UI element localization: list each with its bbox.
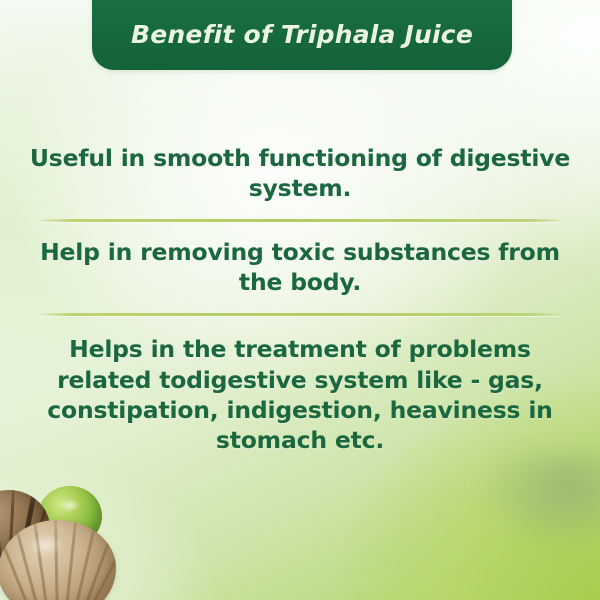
fruit-rib	[53, 520, 58, 600]
benefit-item-2: Help in removing toxic substances from t…	[0, 222, 600, 313]
fruit-rib	[62, 520, 79, 600]
benefit-item-3: Helps in the treatment of problems relat…	[0, 316, 600, 465]
benefit-text-3: Helps in the treatment of problems relat…	[26, 334, 574, 455]
header-banner: Benefit of Triphala Juice	[92, 0, 512, 70]
page-title: Benefit of Triphala Juice	[131, 20, 473, 49]
fruit-rib	[31, 520, 52, 600]
triphala-benefits-poster: Benefit of Triphala Juice Useful in smoo…	[0, 0, 600, 600]
bibhitaki-fruit-icon	[0, 520, 116, 600]
benefit-text-1: Useful in smooth functioning of digestiv…	[26, 144, 574, 203]
benefit-text-2: Help in removing toxic substances from t…	[26, 238, 574, 297]
benefit-item-1: Useful in smooth functioning of digestiv…	[0, 128, 600, 219]
benefits-list: Useful in smooth functioning of digestiv…	[0, 128, 600, 466]
triphala-fruit-cluster	[0, 476, 176, 600]
